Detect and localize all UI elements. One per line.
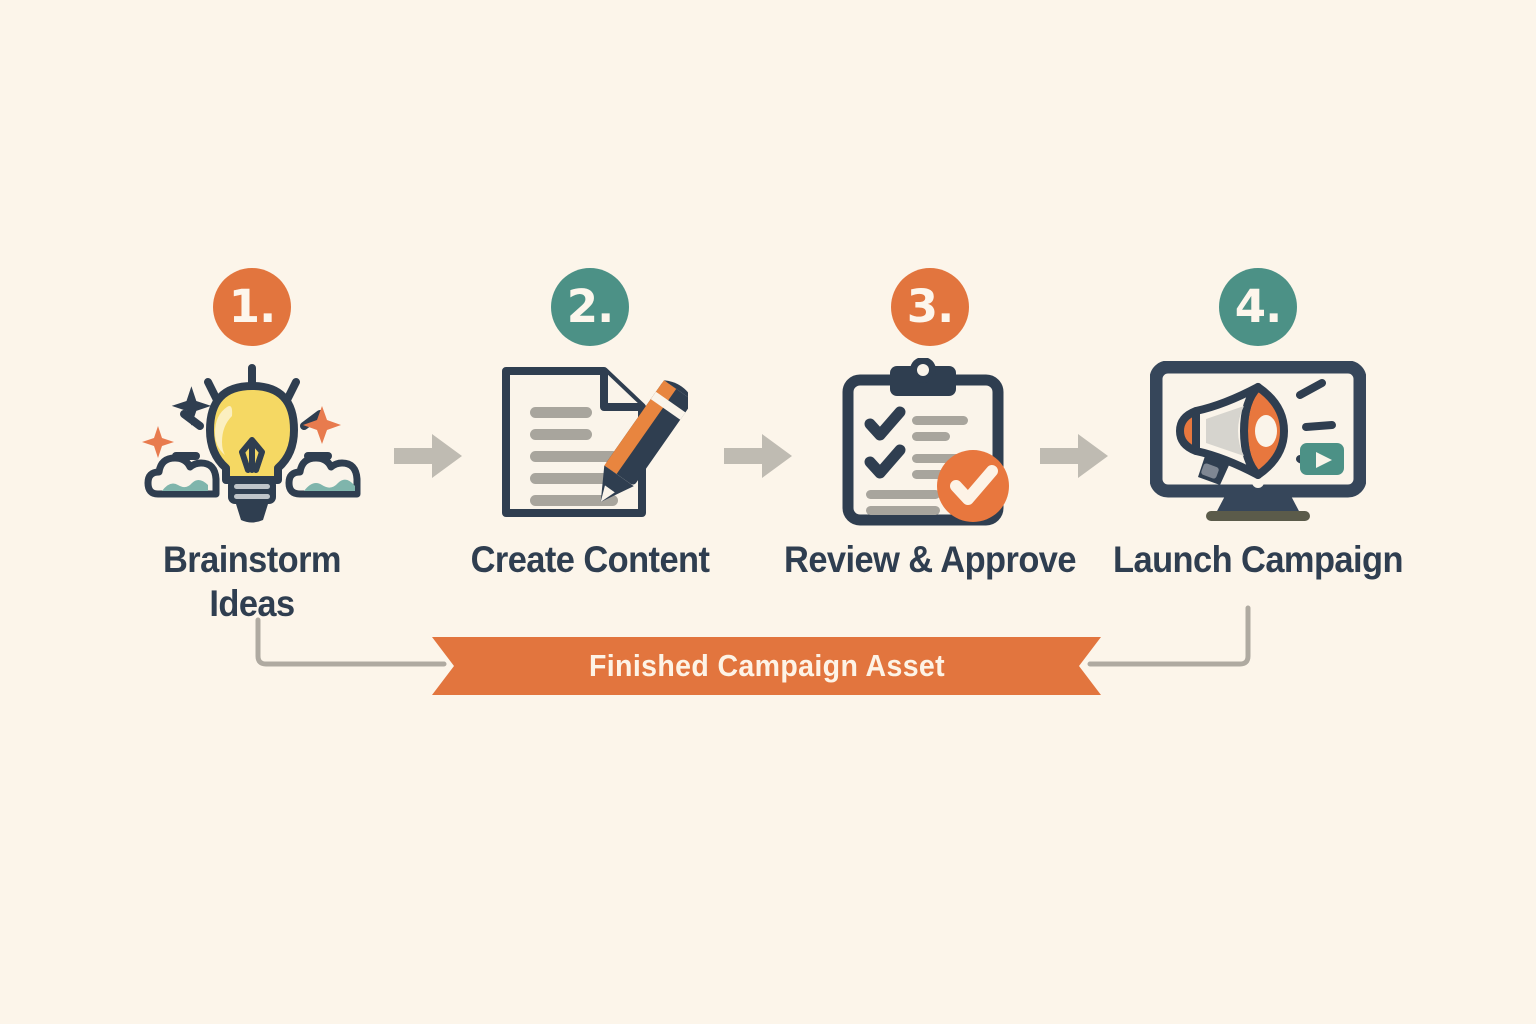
step-number-badge-2: 2. <box>551 268 629 346</box>
step-label-1: Brainstorm Ideas <box>94 538 410 625</box>
infographic-canvas: Finished Campaign Asset 1. <box>0 0 1536 1024</box>
step-label-4-line1: Launch Campaign <box>1100 538 1416 582</box>
step-review-approve: 3. <box>760 268 1100 582</box>
step-number-badge-3: 3. <box>891 268 969 346</box>
step-create-content: 2. <box>420 268 760 582</box>
connector-left <box>258 620 444 664</box>
monitor-megaphone-icon <box>1088 358 1428 528</box>
banner-label: Finished Campaign Asset <box>459 637 1075 695</box>
clipboard-checklist-approved-icon <box>760 358 1100 528</box>
step-number-badge-1: 1. <box>213 268 291 346</box>
step-label-2-line1: Create Content <box>432 538 748 582</box>
step-label-1-line2: Ideas <box>94 582 410 626</box>
step-label-3-line1: Review & Approve <box>772 538 1088 582</box>
step-label-1-line1: Brainstorm <box>94 538 410 582</box>
step-label-4: Launch Campaign <box>1100 538 1416 582</box>
step-label-3: Review & Approve <box>772 538 1088 582</box>
step-label-2: Create Content <box>432 538 748 582</box>
lightbulb-idea-icon <box>82 358 422 528</box>
step-brainstorm-ideas: 1. <box>82 268 422 625</box>
connector-right <box>1090 608 1248 664</box>
document-pencil-icon <box>420 358 760 528</box>
step-number-badge-4: 4. <box>1219 268 1297 346</box>
step-launch-campaign: 4. <box>1088 268 1428 582</box>
